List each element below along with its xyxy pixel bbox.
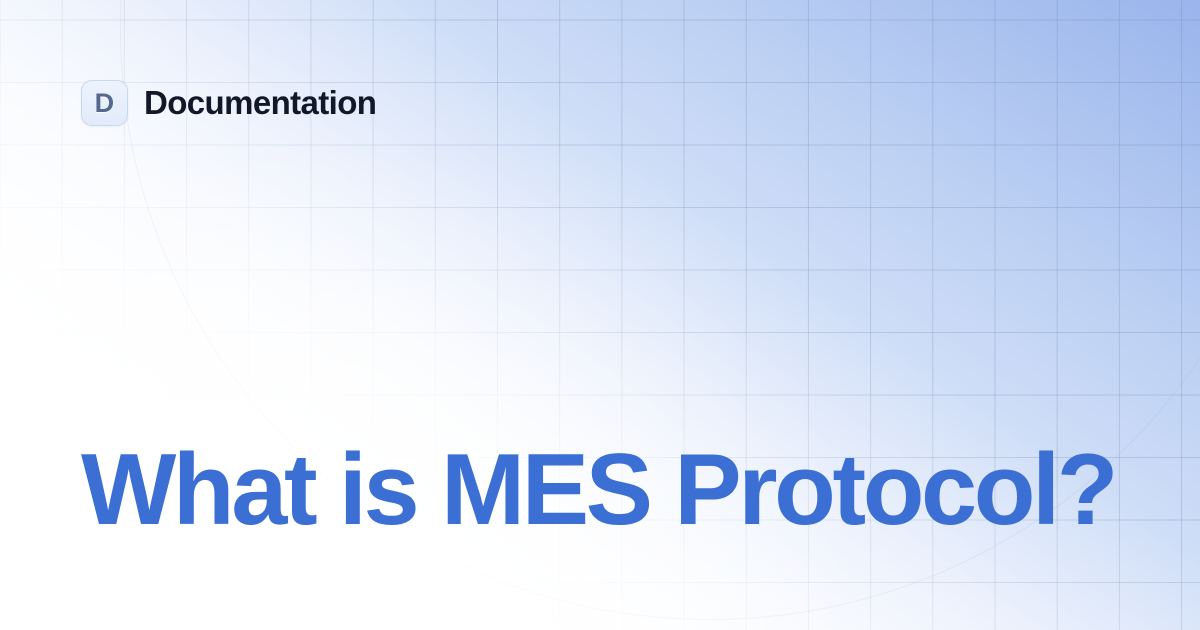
eyebrow-label: Documentation [144, 84, 376, 122]
eyebrow: D Documentation [81, 80, 376, 126]
page-title: What is MES Protocol? [81, 437, 1141, 543]
card-content: D Documentation What is MES Protocol? [0, 0, 1200, 630]
documentation-badge-icon: D [81, 80, 128, 126]
og-card: D Documentation What is MES Protocol? [0, 0, 1200, 630]
badge-letter: D [95, 90, 115, 117]
